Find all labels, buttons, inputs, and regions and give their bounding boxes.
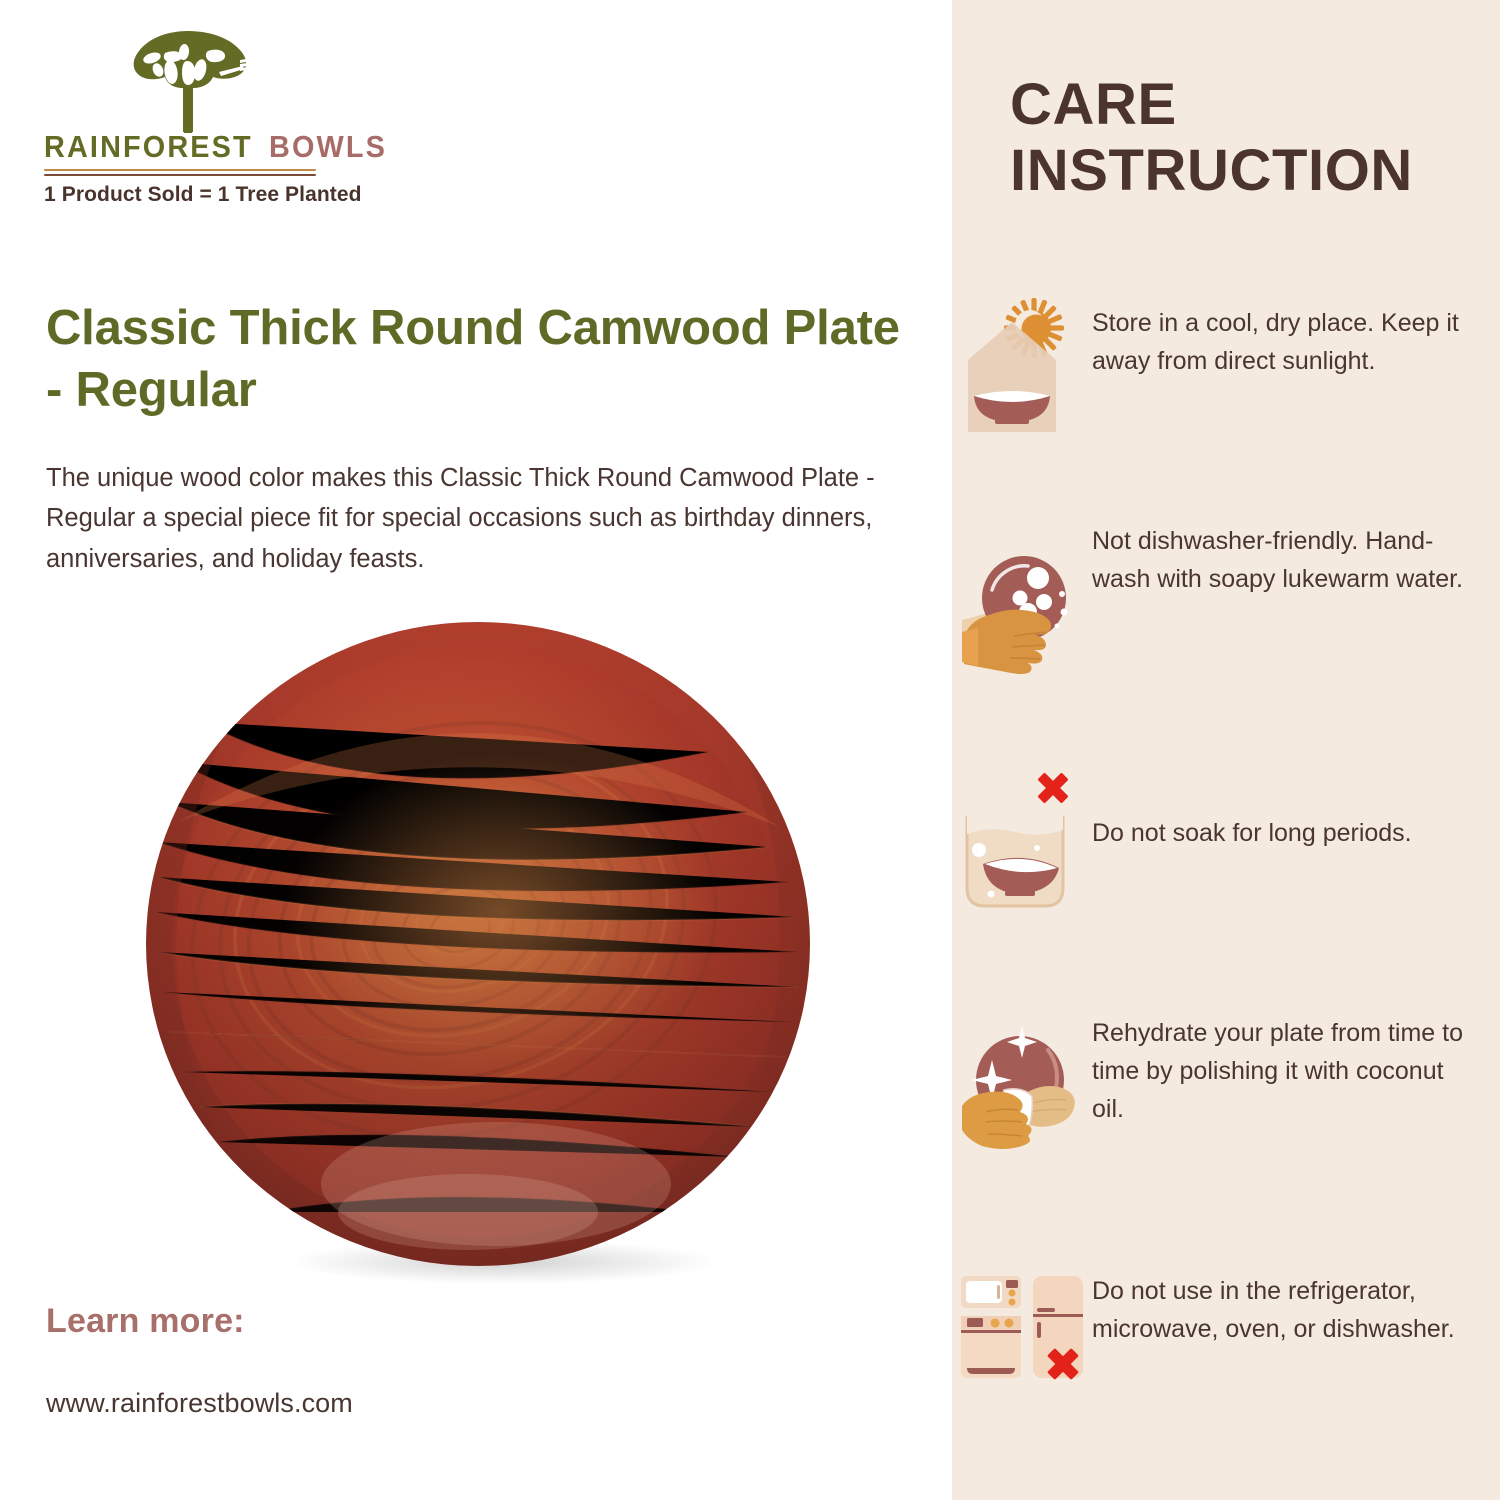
care-instruction-panel: CARE INSTRUCTION (952, 0, 1500, 1500)
care-tip-text: Not dishwasher-friendly. Hand-wash with … (1092, 522, 1500, 598)
care-tip-item: Do not use in the refrigerator, microwav… (952, 1262, 1500, 1462)
care-tip-item: Store in a cool, dry place. Keep it away… (952, 290, 1500, 522)
brand-tagline: 1 Product Sold = 1 Tree Planted (44, 183, 334, 207)
house-with-bowl-and-sun-icon (952, 290, 1092, 440)
logo-text-rainforest: RAINFOREST (44, 131, 253, 162)
logo-divider-rules (44, 169, 316, 178)
brand-logo[interactable]: RAINFOREST BOWLS 1 Product Sold = 1 Tree… (44, 28, 334, 207)
product-description: The unique wood color makes this Classic… (46, 458, 916, 579)
website-url[interactable]: www.rainforestbowls.com (46, 1388, 353, 1419)
care-tips-list: Store in a cool, dry place. Keep it away… (952, 290, 1500, 1462)
hand-washing-plate-icon (952, 522, 1092, 672)
logo-rule-bottom (44, 174, 316, 176)
care-tip-text: Rehydrate your plate from time to time b… (1092, 1012, 1500, 1128)
care-tip-text: Do not soak for long periods. (1092, 772, 1500, 852)
care-tip-item: Not dishwasher-friendly. Hand-wash with … (952, 522, 1500, 772)
bowl-soaking-in-water-no-icon (952, 772, 1092, 922)
red-x-icon (1037, 772, 1068, 803)
acacia-tree-icon (44, 28, 334, 133)
logo-text-bowls: BOWLS (269, 131, 387, 162)
care-heading: CARE INSTRUCTION (1010, 72, 1480, 203)
hands-polishing-plate-with-cloth-icon (952, 1012, 1092, 1162)
care-heading-line1: CARE (1010, 72, 1480, 138)
product-photo (108, 612, 848, 1292)
product-care-card: RAINFOREST BOWLS 1 Product Sold = 1 Tree… (0, 0, 1500, 1500)
care-tip-text: Store in a cool, dry place. Keep it away… (1092, 290, 1500, 380)
product-title: Classic Thick Round Camwood Plate - Regu… (46, 298, 906, 421)
care-heading-line2: INSTRUCTION (1010, 138, 1480, 204)
care-tip-item: Rehydrate your plate from time to time b… (952, 1012, 1500, 1262)
microwave-dishwasher-refrigerator-no-icon (952, 1262, 1092, 1412)
product-panel: RAINFOREST BOWLS 1 Product Sold = 1 Tree… (0, 0, 952, 1500)
care-tip-text: Do not use in the refrigerator, microwav… (1092, 1262, 1500, 1348)
logo-rule-top (44, 169, 316, 171)
care-tip-item: Do not soak for long periods. (952, 772, 1500, 1012)
learn-more-label: Learn more: (46, 1302, 245, 1341)
